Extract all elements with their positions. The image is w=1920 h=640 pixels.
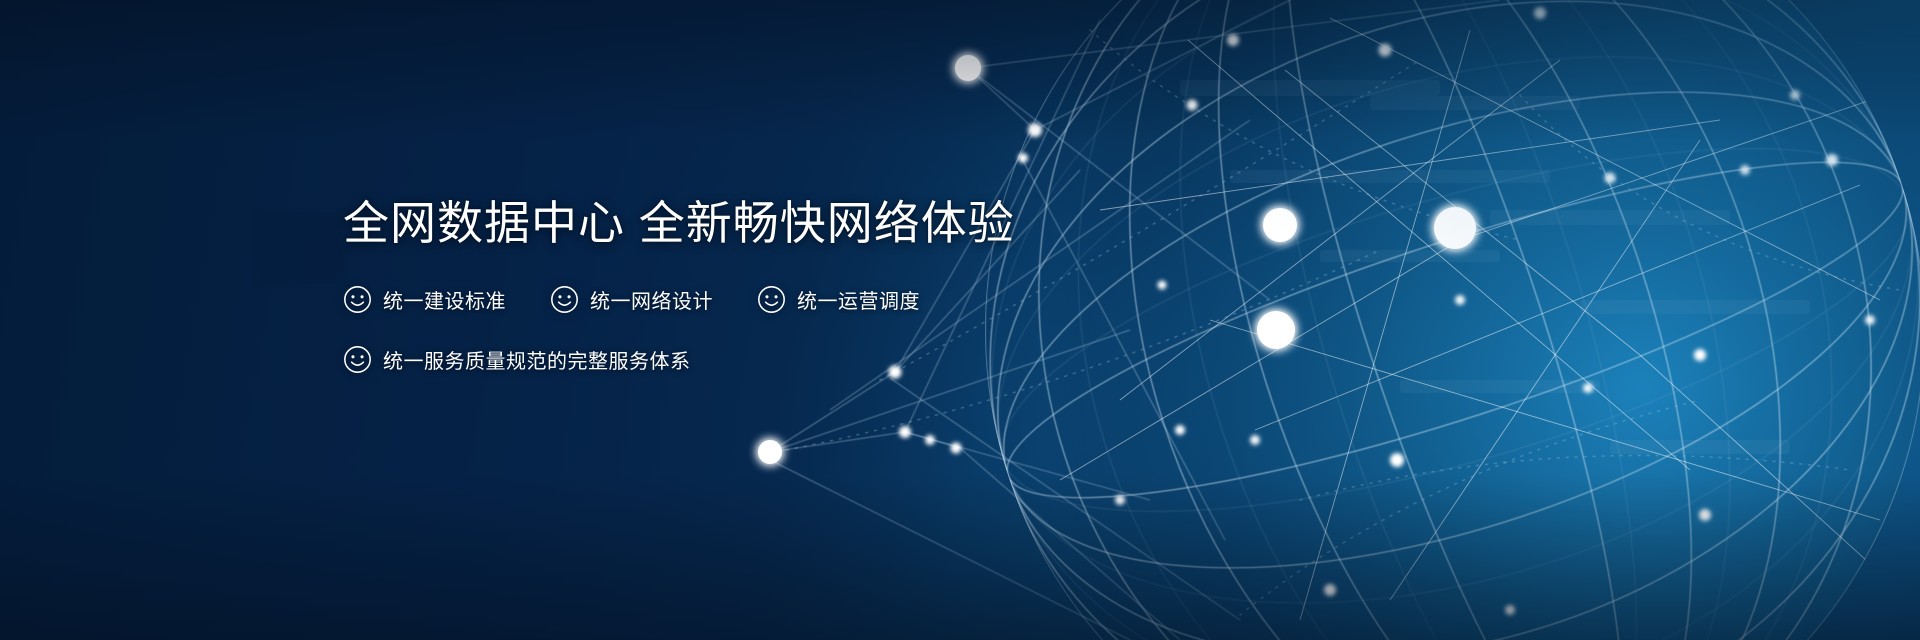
hero-banner: 全网数据中心 全新畅快网络体验 统一建设标准 <box>0 0 1920 640</box>
smiley-icon <box>343 285 372 314</box>
page-title: 全网数据中心 全新畅快网络体验 <box>343 196 1203 250</box>
feature-row: 统一服务质量规范的完整服务体系 <box>343 336 1203 382</box>
hero-copy: 全网数据中心 全新畅快网络体验 统一建设标准 <box>343 196 1203 382</box>
feature-item: 统一服务质量规范的完整服务体系 <box>343 345 691 374</box>
feature-list: 统一建设标准 统一网络设计 <box>343 276 1203 382</box>
feature-row: 统一建设标准 统一网络设计 <box>343 276 1203 322</box>
feature-item: 统一建设标准 <box>343 285 506 314</box>
smiley-icon <box>550 285 579 314</box>
smiley-icon <box>757 285 786 314</box>
feature-label: 统一建设标准 <box>383 285 506 314</box>
feature-label: 统一运营调度 <box>797 285 920 314</box>
smiley-icon <box>343 345 372 374</box>
feature-label: 统一服务质量规范的完整服务体系 <box>383 345 691 374</box>
feature-label: 统一网络设计 <box>590 285 713 314</box>
feature-item: 统一运营调度 <box>757 285 920 314</box>
feature-item: 统一网络设计 <box>550 285 713 314</box>
